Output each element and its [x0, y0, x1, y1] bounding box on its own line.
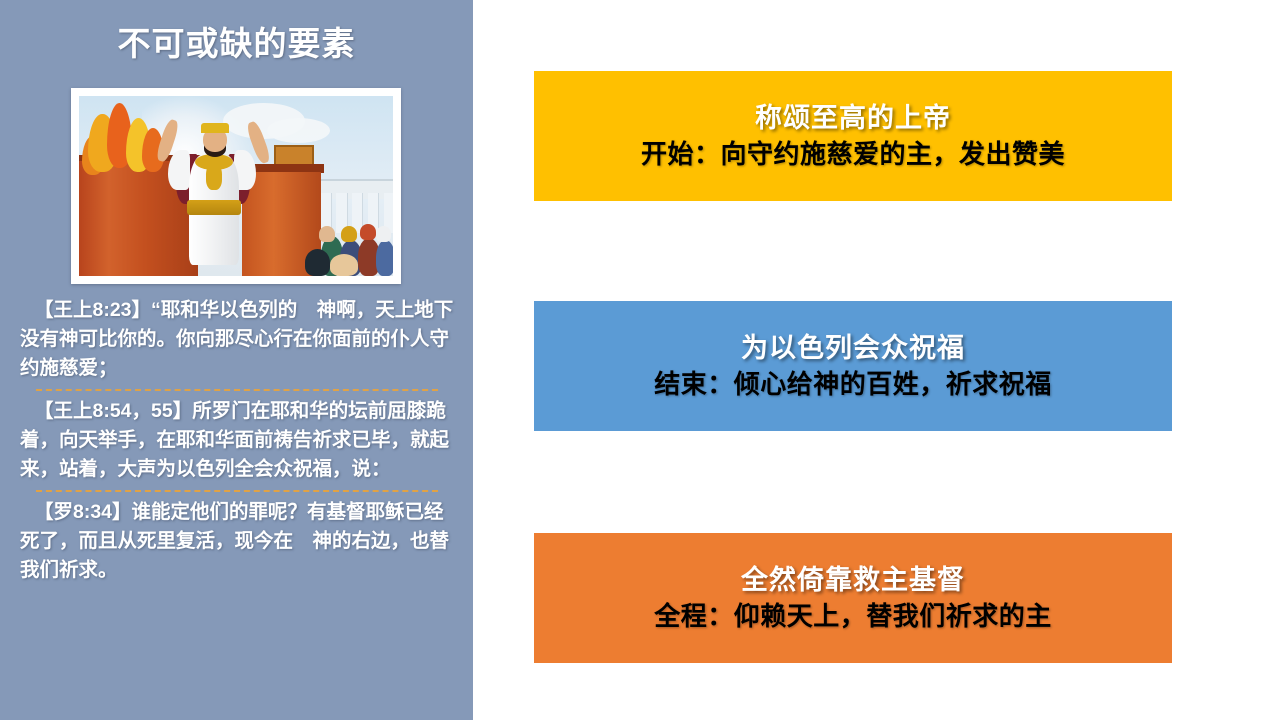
- panel-subtitle: 全程：仰赖天上，替我们祈求的主: [654, 602, 1052, 632]
- verse-divider: [36, 490, 438, 492]
- crowd-figure: [305, 249, 330, 276]
- scripture-verse: 【王上8:54，55】所罗门在耶和华的坛前屈膝跪着，向天举手，在耶和华面前祷告祈…: [14, 397, 460, 484]
- sash-shape: [187, 200, 240, 214]
- scripture-verse: 【罗8:34】谁能定他们的罪呢？有基督耶稣已经死了，而且从死里复活，现今在 神的…: [14, 498, 460, 585]
- crowd-figure: [319, 226, 335, 242]
- panel-title: 全然倚靠救主基督: [741, 565, 965, 596]
- content-panel-2[interactable]: 为以色列会众祝福 结束：倾心给神的百姓，祈求祝福: [534, 301, 1172, 431]
- panel-title: 为以色列会众祝福: [741, 333, 965, 364]
- cloud-shape: [267, 118, 330, 143]
- crowd-figure: [376, 226, 392, 242]
- sleeve-shape: [168, 150, 190, 190]
- solomon-praying-at-altar-illustration: [79, 96, 393, 276]
- panel-subtitle: 开始：向守约施慈爱的主，发出赞美: [641, 140, 1065, 170]
- content-panel-3[interactable]: 全然倚靠救主基督 全程：仰赖天上，替我们祈求的主: [534, 533, 1172, 663]
- crown-shape: [201, 123, 229, 133]
- illustration-frame: [71, 88, 401, 284]
- necklace-shape: [206, 164, 222, 189]
- left-sidebar: 不可或缺的要素: [0, 0, 473, 720]
- scripture-block: 【王上8:23】“耶和华以色列的 神啊，天上地下没有神可比你的。你向那尽心行在你…: [14, 296, 460, 585]
- crowd-figure: [330, 254, 358, 276]
- crowd-figure: [360, 224, 376, 240]
- crowd-figure: [341, 226, 357, 242]
- scripture-verse: 【王上8:23】“耶和华以色列的 神啊，天上地下没有神可比你的。你向那尽心行在你…: [14, 296, 460, 383]
- verse-divider: [36, 389, 438, 391]
- panel-subtitle: 结束：倾心给神的百姓，祈求祝福: [654, 370, 1052, 400]
- crowd-figure: [376, 240, 393, 276]
- page-title: 不可或缺的要素: [0, 26, 473, 62]
- panel-title: 称颂至高的上帝: [755, 103, 951, 134]
- content-panel-1[interactable]: 称颂至高的上帝 开始：向守约施慈爱的主，发出赞美: [534, 71, 1172, 201]
